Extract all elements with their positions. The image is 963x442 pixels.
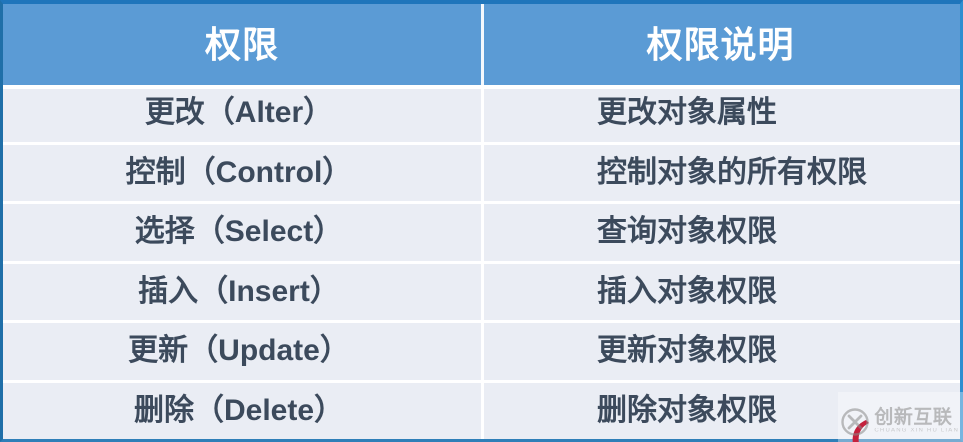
cell-description-text: 插入对象权限 <box>597 277 777 307</box>
cell-description-text: 控制对象的所有权限 <box>597 158 867 188</box>
header-underline <box>3 85 960 89</box>
slide-canvas: 权限 权限说明 更改（Alter） 更改对象属性 控制（Control） <box>0 0 963 442</box>
cell-description-text: 查询对象权限 <box>597 217 777 247</box>
header-column-divider <box>481 4 484 85</box>
cell-permission: 插入（Insert） <box>3 264 481 321</box>
cell-permission-text: 更改（Alter） <box>145 98 333 128</box>
cell-description: 插入对象权限 <box>481 264 960 321</box>
cell-permission: 选择（Select） <box>3 204 481 261</box>
table-row: 更新（Update） 更新对象权限 <box>3 320 960 380</box>
cell-description-text: 更改对象属性 <box>597 98 777 128</box>
cell-description: 查询对象权限 <box>481 204 960 261</box>
cell-description: 更新对象权限 <box>481 323 960 380</box>
column-header-permission: 权限 <box>3 4 481 85</box>
table-body: 更改（Alter） 更改对象属性 控制（Control） 控制对象的所有权限 选… <box>3 85 960 439</box>
table-row: 更改（Alter） 更改对象属性 <box>3 85 960 142</box>
table-header-row: 权限 权限说明 <box>3 4 960 85</box>
column-header-description: 权限说明 <box>481 4 960 85</box>
cell-description: 更改对象属性 <box>481 85 960 142</box>
table-row: 控制（Control） 控制对象的所有权限 <box>3 142 960 202</box>
permissions-table: 权限 权限说明 更改（Alter） 更改对象属性 控制（Control） <box>0 0 963 442</box>
cell-permission: 删除（Delete） <box>3 383 481 440</box>
cell-description-text: 更新对象权限 <box>597 336 777 366</box>
cell-permission-text: 选择（Select） <box>135 217 343 247</box>
cell-permission-text: 插入（Insert） <box>138 277 340 307</box>
cell-permission: 更改（Alter） <box>3 85 481 142</box>
cell-permission: 更新（Update） <box>3 323 481 380</box>
column-header-permission-label: 权限 <box>205 27 279 63</box>
cell-description-text: 删除对象权限 <box>597 396 777 426</box>
cell-description: 控制对象的所有权限 <box>481 145 960 202</box>
table-row: 插入（Insert） 插入对象权限 <box>3 261 960 321</box>
cell-permission-text: 更新（Update） <box>128 336 350 366</box>
cell-permission: 控制（Control） <box>3 145 481 202</box>
table-row: 删除（Delete） 删除对象权限 <box>3 380 960 440</box>
cell-permission-text: 删除（Delete） <box>134 396 344 426</box>
cell-description: 删除对象权限 <box>481 383 960 440</box>
column-header-description-label: 权限说明 <box>646 27 794 63</box>
cell-permission-text: 控制（Control） <box>126 158 353 188</box>
table-row: 选择（Select） 查询对象权限 <box>3 201 960 261</box>
